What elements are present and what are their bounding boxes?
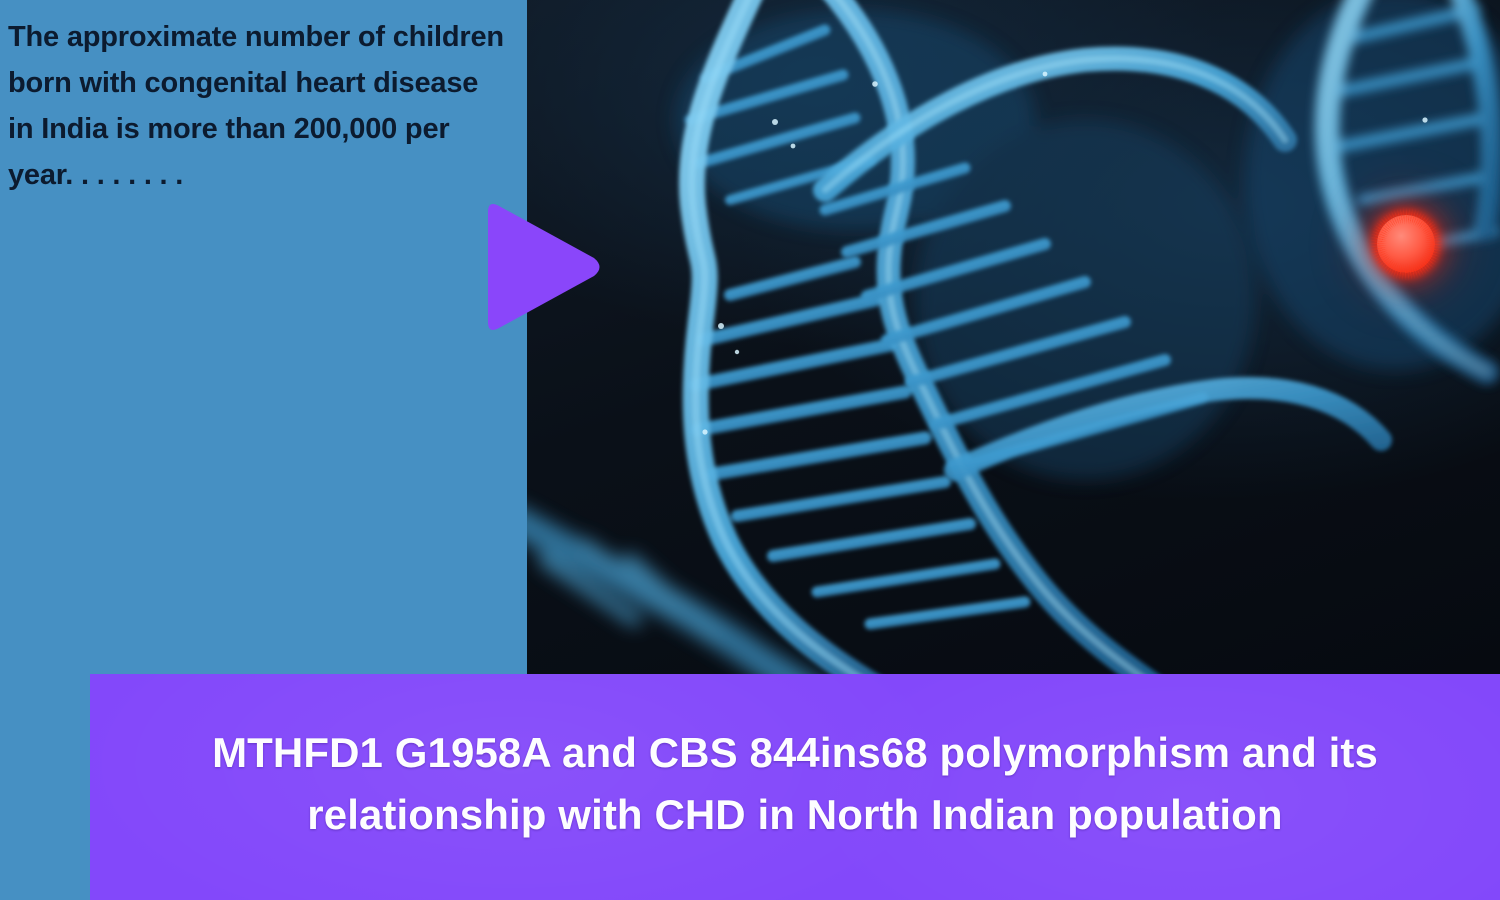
dna-helix-graphic	[525, 0, 1500, 685]
quote-text: The approximate number of children born …	[8, 14, 508, 198]
title-line-2: relationship with CHD in North Indian po…	[307, 784, 1282, 846]
mutation-marker-icon	[1377, 215, 1435, 273]
title-line-1: MTHFD1 G1958A and CBS 844ins68 polymorph…	[212, 722, 1378, 784]
play-triangle-icon	[468, 196, 608, 338]
play-button[interactable]	[468, 196, 608, 338]
dna-illustration	[525, 0, 1500, 685]
title-banner: MTHFD1 G1958A and CBS 844ins68 polymorph…	[90, 674, 1500, 900]
promo-card: The approximate number of children born …	[0, 0, 1500, 900]
